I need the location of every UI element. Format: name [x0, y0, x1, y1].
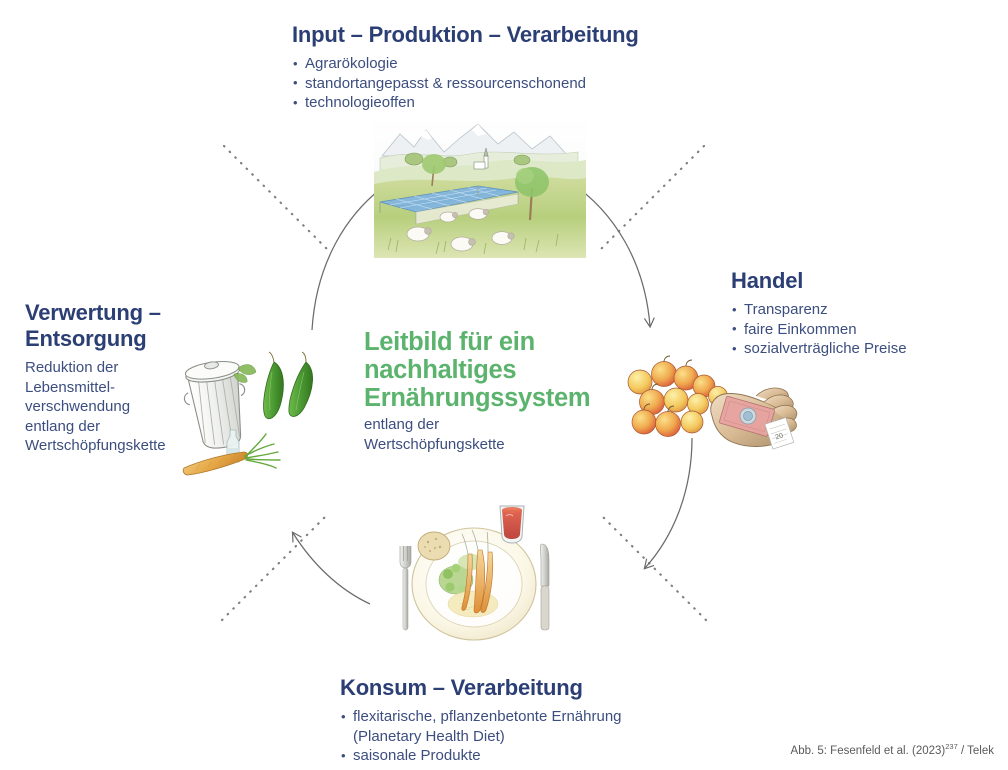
- stage-handel-heading: Handel: [731, 268, 1001, 294]
- stage-input: Input – Produktion – Verarbeitung Agrarö…: [292, 22, 712, 113]
- list-item: Agrarökologie: [292, 54, 712, 74]
- arrow-waste-to-input: [312, 182, 390, 330]
- list-item: flexitarische, pflanzenbetonte Ernährung: [340, 707, 700, 727]
- arrow-handel-to-konsum: [645, 438, 692, 568]
- figure-caption: Abb. 5: Fesenfeld et al. (2023)237 / Tel…: [791, 740, 994, 758]
- list-item: sozialverträgliche Preise: [731, 339, 1001, 359]
- stage-input-heading: Input – Produktion – Verarbeitung: [292, 22, 712, 48]
- arrow-input-to-handel: [570, 182, 650, 326]
- list-item-continuation: (Planetary Health Diet): [340, 727, 700, 747]
- cycle-diagram-canvas: 20: [0, 0, 1008, 770]
- stage-konsum-bullets: flexitarische, pflanzenbetonte Ernährung…: [340, 707, 700, 766]
- center-subtitle: entlang der Wertschöpfungskette: [364, 415, 622, 454]
- stage-verwertung-heading: Verwertung – Entsorgung: [25, 300, 225, 352]
- plate-meal-illustration: [374, 492, 576, 652]
- center-title: Leitbild für ein nachhaltiges Ernährungs…: [364, 328, 622, 412]
- svg-text:20: 20: [775, 432, 785, 441]
- stage-verwertung: Verwertung – Entsorgung Reduktion der Le…: [25, 300, 225, 456]
- list-item: Transparenz: [731, 300, 1001, 320]
- caption-footnote-ref: 237: [945, 742, 958, 751]
- caption-text-before: Abb. 5: Fesenfeld et al. (2023): [791, 745, 946, 757]
- stage-konsum: Konsum – Verarbeitung flexitarische, pfl…: [340, 675, 700, 766]
- stage-handel-bullets: Transparenz faire Einkommen sozialverträ…: [731, 300, 1001, 359]
- farm-solar-sheep-illustration: [374, 116, 586, 258]
- arrow-konsum-to-waste: [293, 533, 370, 604]
- list-item: technologieoffen: [292, 93, 712, 113]
- list-item: faire Einkommen: [731, 320, 1001, 340]
- center-statement: Leitbild für ein nachhaltiges Ernährungs…: [364, 328, 622, 454]
- stage-konsum-heading: Konsum – Verarbeitung: [340, 675, 700, 701]
- list-item: saisonale Produkte: [340, 746, 700, 766]
- list-item: standortangepasst & ressourcenschonend: [292, 74, 712, 94]
- apples-hand-money-illustration: 20: [618, 352, 798, 492]
- stage-handel: Handel Transparenz faire Einkommen sozia…: [731, 268, 1001, 359]
- caption-text-after: / Telek: [958, 745, 994, 757]
- stage-verwertung-body: Reduktion der Lebensmittel- verschwendun…: [25, 358, 225, 456]
- stage-input-bullets: Agrarökologie standortangepasst & ressou…: [292, 54, 712, 113]
